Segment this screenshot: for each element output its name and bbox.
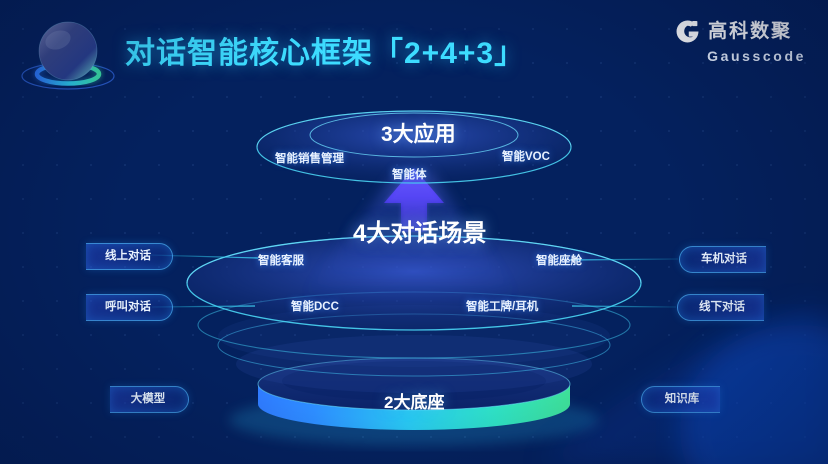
tag-online-dialog[interactable]: 线上对话: [86, 243, 173, 270]
agent-label: 智能体: [392, 166, 427, 182]
tag-large-model[interactable]: 大模型: [110, 386, 189, 413]
page-title: 对话智能核心框架「2+4+3」: [125, 28, 525, 72]
logo-text-cn: 高科数聚: [708, 22, 792, 41]
base-layer-title: 2大底座: [384, 388, 444, 413]
tag-call-dialog[interactable]: 呼叫对话: [86, 294, 173, 321]
sphere-icon: [22, 22, 114, 89]
middle-label-dcc: 智能DCC: [291, 298, 339, 314]
top-label-voc: 智能VOC: [502, 148, 550, 164]
top-layer-title: 3大应用: [381, 118, 456, 148]
middle-label-badge: 智能工牌/耳机: [466, 298, 538, 314]
middle-label-service: 智能客服: [258, 252, 304, 268]
logo-text-en: Gausscode: [707, 49, 806, 63]
brand-logo: 高科数聚 Gausscode: [674, 18, 806, 63]
tag-knowledge-base[interactable]: 知识库: [641, 386, 720, 413]
middle-layer-title: 4大对话场景: [353, 213, 486, 248]
tag-incar-dialog[interactable]: 车机对话: [679, 246, 766, 273]
tag-offline-dialog[interactable]: 线下对话: [677, 294, 764, 321]
gausscode-g-mark: [674, 18, 701, 45]
slide-canvas: 对话智能核心框架「2+4+3」 高科数聚 Gausscode 3大应用 智能销售…: [0, 0, 828, 464]
top-label-sales: 智能销售管理: [275, 150, 344, 166]
middle-label-cockpit: 智能座舱: [536, 252, 582, 268]
